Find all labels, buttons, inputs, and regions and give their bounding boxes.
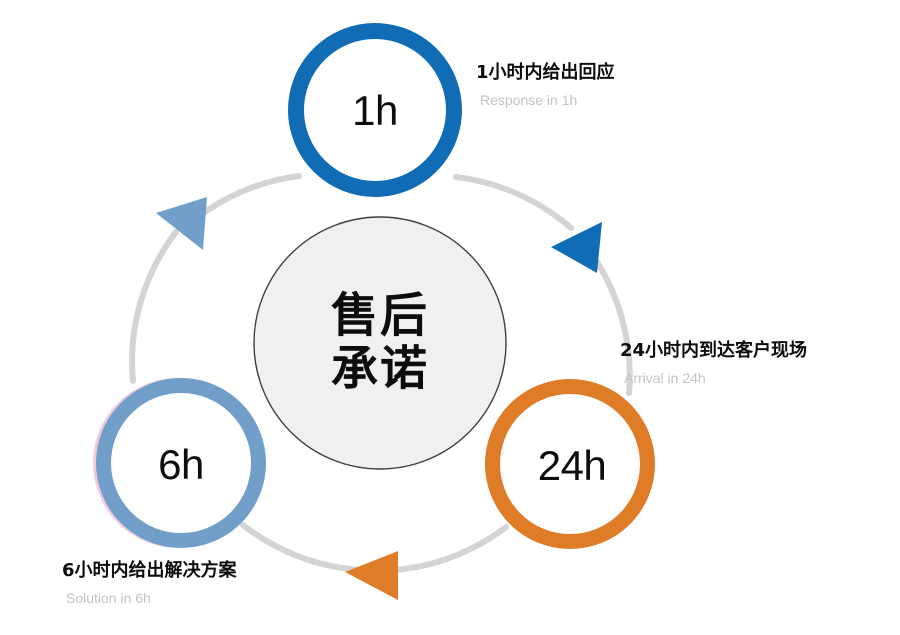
diagram-canvas — [0, 0, 900, 635]
arc-left-down — [132, 232, 176, 381]
node-value-response: 1h — [352, 90, 398, 132]
callout-solution-subtitle: Solution in 6h — [66, 589, 237, 607]
cycle-diagram: 售后 承诺 1h 6h 24h 1小时内给出回应 Response in 1h … — [0, 0, 900, 635]
arrow-arrival-icon — [551, 222, 602, 273]
callout-solution-title: 6小时内给出解决方案 — [62, 560, 237, 583]
hub-label-line2: 承诺 — [331, 343, 429, 396]
arc-bottom-right — [394, 527, 506, 570]
arc-bottom-left — [243, 525, 361, 570]
callout-response-subtitle: Response in 1h — [480, 91, 615, 109]
callout-solution: 6小时内给出解决方案 Solution in 6h — [62, 560, 237, 607]
hub-label-line1: 售后 — [331, 290, 429, 343]
callout-arrival: 24小时内到达客户现场 Arrival in 24h — [620, 340, 807, 387]
callout-arrival-title: 24小时内到达客户现场 — [620, 340, 807, 363]
node-value-arrival: 24h — [538, 445, 607, 487]
arrow-solution-icon — [156, 197, 207, 250]
hub-label: 售后 承诺 — [331, 290, 429, 395]
arc-top-right — [456, 177, 571, 228]
callout-response: 1小时内给出回应 Response in 1h — [476, 62, 615, 109]
callout-response-title: 1小时内给出回应 — [476, 62, 615, 85]
arrow-response-icon — [345, 551, 398, 600]
node-value-solution: 6h — [158, 444, 204, 486]
callout-arrival-subtitle: Arrival in 24h — [624, 369, 807, 387]
